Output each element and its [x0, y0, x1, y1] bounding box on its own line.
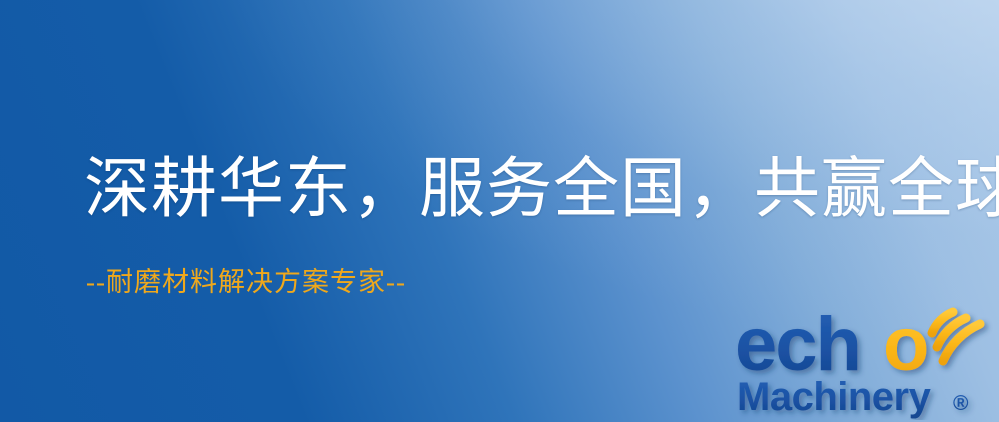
logo-registered-mark: ®: [953, 392, 969, 415]
echo-wave-icon: [932, 312, 980, 361]
hero-banner: 深耕华东，服务全国，共赢全球 --耐磨材料解决方案专家--: [0, 0, 999, 422]
echo-machinery-logo[interactable]: ech o Machinery ®: [731, 292, 993, 420]
banner-subtitle: --耐磨材料解决方案专家--: [86, 266, 406, 298]
logo-tagline: Machinery: [737, 375, 932, 419]
banner-headline: 深耕华东，服务全国，共赢全球: [84, 152, 999, 228]
